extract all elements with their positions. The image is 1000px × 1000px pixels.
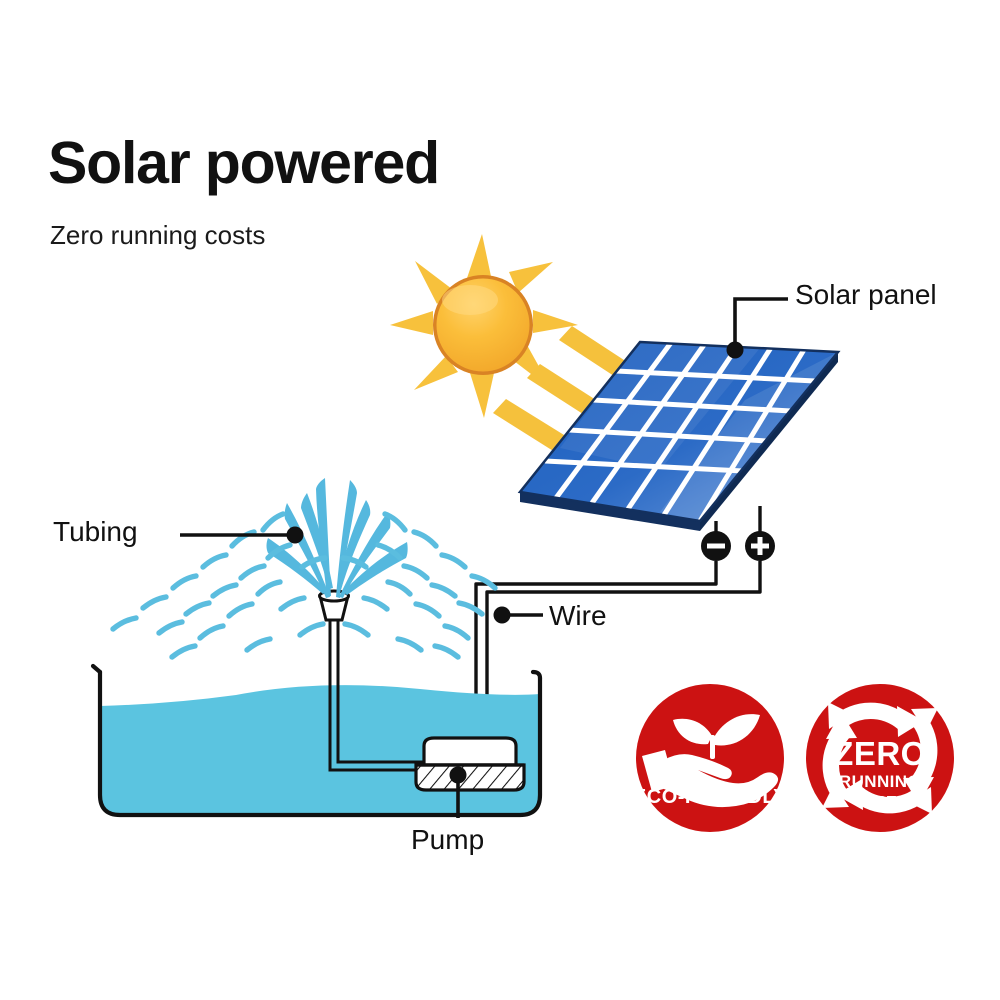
- diagram-canvas: ECO-FRIENDLY: [0, 0, 1000, 1000]
- label-wire: Wire: [549, 602, 607, 630]
- pump-body-top: [424, 738, 516, 765]
- terminal-positive: [745, 531, 775, 561]
- badge-zero-running-costs[interactable]: ZERO RUNNING COSTS: [806, 684, 954, 832]
- badge-eco-label: ECO-FRIENDLY: [633, 786, 787, 808]
- pump[interactable]: [416, 738, 524, 790]
- badge-zero-line2: RUNNING: [839, 772, 921, 791]
- label-solar-panel: Solar panel: [795, 281, 937, 309]
- badge-zero-line1: ZERO: [833, 735, 927, 772]
- terminal-negative: [701, 531, 731, 561]
- badge-eco-friendly[interactable]: ECO-FRIENDLY: [633, 684, 787, 832]
- water-droplets: [113, 514, 495, 657]
- label-pump: Pump: [411, 826, 484, 854]
- pump-body-hatched: [416, 765, 524, 790]
- page-title: Solar powered: [48, 134, 439, 193]
- wire-callout: [494, 607, 544, 624]
- solar-panel[interactable]: [520, 340, 838, 531]
- tubing-callout: [180, 527, 304, 544]
- sun-highlight: [442, 285, 498, 315]
- label-tubing: Tubing: [53, 518, 138, 546]
- page-subtitle: Zero running costs: [50, 222, 265, 248]
- badge-zero-line3: COSTS: [853, 793, 907, 810]
